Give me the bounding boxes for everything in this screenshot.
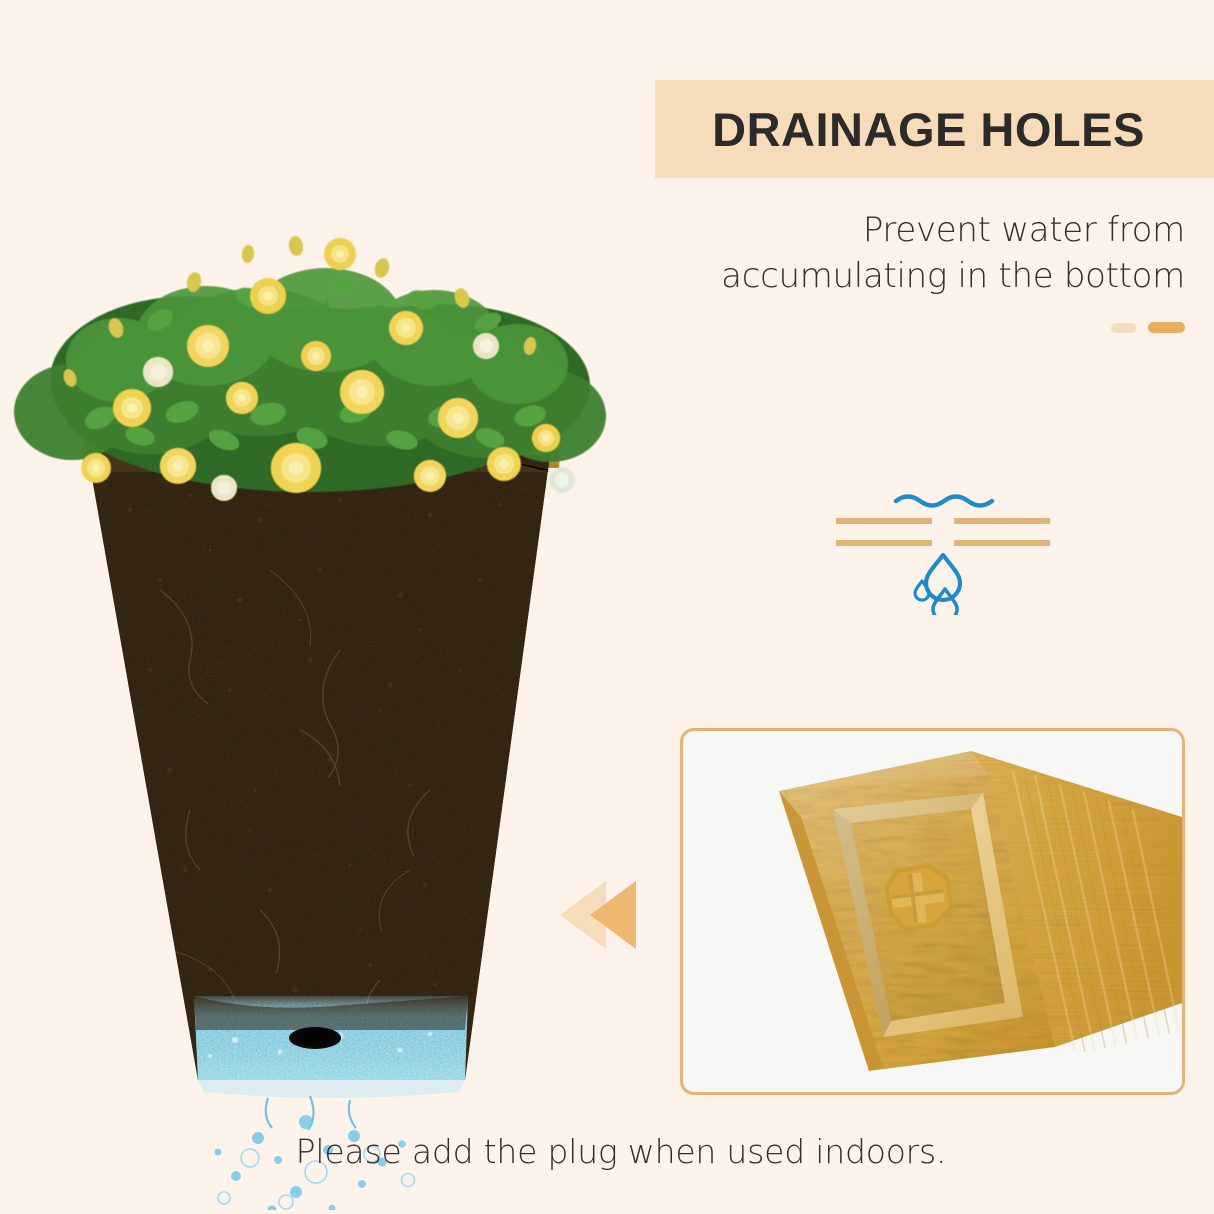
drain-hole bbox=[289, 1027, 341, 1049]
soil-body bbox=[70, 446, 570, 1090]
water-wave-line bbox=[896, 497, 992, 506]
rose-bush bbox=[14, 235, 606, 501]
dash-dark bbox=[1148, 322, 1185, 333]
planter-illustration bbox=[10, 150, 630, 1210]
bottom-caption: Please add the plug when used indoors. bbox=[0, 1132, 1214, 1171]
subtitle-line-2: accumulating in the bottom bbox=[640, 254, 1185, 300]
surface-bar-right-bottom bbox=[954, 540, 1050, 546]
wooden-plug-detail-photo bbox=[680, 728, 1185, 1095]
infographic-canvas: DRAINAGE HOLES Prevent water from accumu… bbox=[0, 0, 1214, 1214]
page-title: DRAINAGE HOLES bbox=[712, 102, 1145, 157]
drainage-water-icon bbox=[818, 485, 1068, 615]
subtitle-block: Prevent water from accumulating in the b… bbox=[640, 208, 1185, 299]
surface-bar-right-top bbox=[954, 518, 1050, 524]
surface-bar-left-top bbox=[836, 518, 932, 524]
decorative-dashes bbox=[1111, 322, 1185, 333]
surface-bar-left-bottom bbox=[836, 540, 932, 546]
title-banner: DRAINAGE HOLES bbox=[655, 80, 1214, 178]
double-left-arrow-icon bbox=[556, 875, 640, 955]
subtitle-line-1: Prevent water from bbox=[640, 208, 1185, 254]
dash-light bbox=[1111, 323, 1136, 333]
